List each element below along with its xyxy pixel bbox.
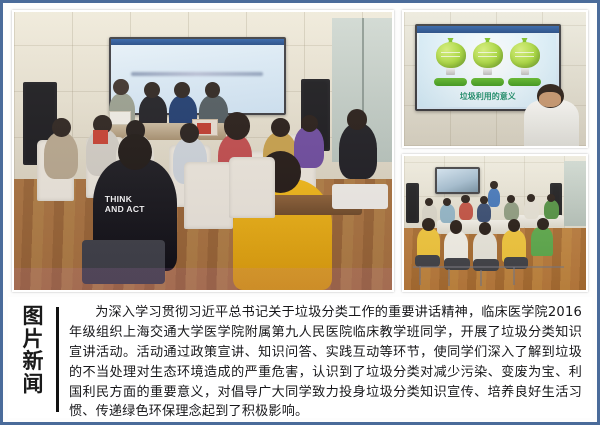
- slide: 垃圾利用的意义: [419, 34, 556, 108]
- presenter-face: [539, 92, 561, 107]
- person-body: [477, 203, 492, 222]
- bulb-label-1: [434, 78, 467, 86]
- person-body: [524, 200, 539, 219]
- person-head: [537, 218, 549, 230]
- page-inner: THINK AND ACT: [3, 3, 597, 422]
- audience-accent: [93, 130, 108, 144]
- person-body: [544, 200, 559, 219]
- group-discussion-photo: [402, 154, 588, 292]
- jacket-text: THINK AND ACT: [105, 195, 169, 228]
- caption-block: 图 片 新 闻 为深入学习贯彻习近平总书记关于垃圾分类工作的重要讲话精神，临床医…: [8, 297, 592, 418]
- speaker-left: [406, 183, 419, 223]
- person-head: [480, 196, 488, 204]
- person-head: [443, 198, 451, 206]
- audience-head: [224, 112, 250, 140]
- audience-head: [271, 118, 290, 137]
- chair-leg: [448, 269, 450, 286]
- bulb-globe: [473, 42, 503, 68]
- person-head: [422, 218, 435, 231]
- person-head: [450, 220, 463, 233]
- classroom-scene: THINK AND ACT: [14, 12, 392, 290]
- person-head: [547, 194, 555, 202]
- caption-label-char-2: 片: [16, 328, 50, 351]
- box-label: [197, 123, 210, 134]
- news-clipping-page: THINK AND ACT: [0, 0, 600, 425]
- standing-speaker-body: [488, 188, 501, 207]
- caption-label-char-1: 图: [16, 305, 50, 328]
- discussion-scene: [404, 156, 586, 290]
- jacket-text-line2: AND ACT: [105, 205, 169, 215]
- projection-screen: [109, 37, 287, 115]
- display-taskbar: [417, 26, 559, 33]
- person-body: [531, 227, 553, 256]
- audience-head: [180, 123, 199, 142]
- bulb-globe: [436, 42, 466, 68]
- caption-vertical-label: 图 片 新 闻: [16, 303, 50, 396]
- chair-dark: [82, 240, 165, 284]
- caption-label-char-3: 新: [16, 350, 50, 373]
- presenter-head: [144, 82, 160, 99]
- person-head: [507, 195, 515, 203]
- bulb-label-3: [508, 78, 541, 86]
- chair: [184, 162, 233, 229]
- lightbulb-1: [436, 42, 466, 76]
- wall-screen: [435, 167, 481, 194]
- person-body: [504, 202, 519, 221]
- presentation-scene: 垃圾利用的意义: [404, 12, 586, 146]
- bulb-base: [483, 68, 491, 75]
- chair-leg: [480, 270, 482, 286]
- person-head: [425, 198, 433, 206]
- person-head: [527, 194, 535, 202]
- bulb-base: [521, 68, 529, 75]
- chair-legs: [413, 266, 564, 268]
- audience-body: [44, 132, 78, 179]
- person-head: [461, 195, 469, 203]
- bulb-globe: [510, 42, 540, 68]
- chair-leg: [419, 266, 421, 285]
- papers: [332, 184, 389, 209]
- doorway: [564, 161, 586, 225]
- photo-collage: THINK AND ACT: [8, 6, 592, 294]
- classroom-lecture-photo: THINK AND ACT: [12, 10, 394, 292]
- bulb-label-2: [471, 78, 504, 86]
- chair: [229, 157, 274, 218]
- presenter-head: [113, 79, 129, 96]
- presenter-head: [174, 82, 190, 99]
- bulb-base: [446, 68, 454, 75]
- person-body: [459, 202, 474, 221]
- audience-head: [301, 115, 318, 132]
- lightbulb-3: [510, 42, 540, 76]
- caption-body-text: 为深入学习贯彻习近平总书记关于垃圾分类工作的重要讲话精神，临床医学院2016年级…: [69, 303, 584, 422]
- chair-leg: [513, 267, 515, 284]
- presentation-slide-photo: 垃圾利用的意义: [402, 10, 588, 148]
- lightbulb-2: [473, 42, 503, 76]
- screen-text-line: [131, 72, 263, 76]
- audience-body: [339, 123, 377, 179]
- caption-divider: [56, 307, 59, 412]
- audience-head: [52, 118, 71, 137]
- caption-label-char-4: 闻: [16, 373, 50, 396]
- screen-taskbar: [111, 39, 285, 45]
